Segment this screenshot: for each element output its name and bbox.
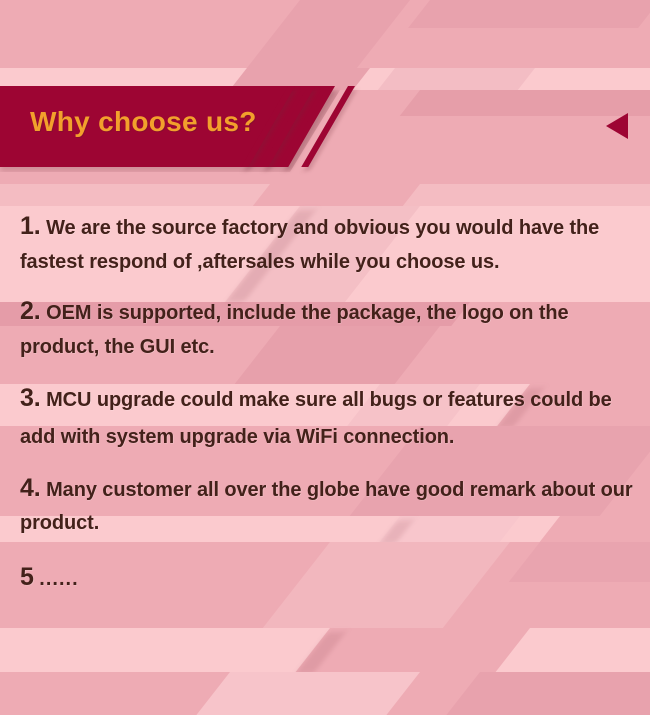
benefits-list: 1. We are the source factory and obvious…: [20, 207, 634, 611]
list-item-number: 2.: [20, 297, 41, 325]
list-item: 4. Many customer all over the globe have…: [20, 469, 634, 540]
bg-diagonal: [116, 628, 330, 672]
bg-diagonal: [378, 68, 535, 90]
slide-root: Why choose us? 1. We are the source fact…: [0, 0, 650, 715]
left-triangle-icon[interactable]: [606, 113, 628, 139]
list-item: 3. MCU upgrade could make sure all bugs …: [20, 377, 634, 454]
list-item-text: Many customer all over the globe have go…: [20, 479, 633, 535]
list-item: 5 ......: [20, 558, 634, 598]
list-item-text: MCU upgrade could make sure all bugs or …: [20, 389, 612, 448]
bg-diagonal: [408, 0, 650, 28]
list-item-number: 5: [20, 563, 34, 591]
list-item-number: 4.: [20, 474, 41, 502]
bg-diagonal: [253, 184, 420, 206]
bg-diagonal: [446, 672, 650, 715]
list-item: 2. OEM is supported, include the package…: [20, 292, 634, 363]
list-item-number: 1.: [20, 212, 41, 240]
list-item-text: ......: [39, 568, 78, 590]
list-item-text: We are the source factory and obvious yo…: [20, 217, 599, 273]
list-item: 1. We are the source factory and obvious…: [20, 207, 634, 278]
list-item-text: OEM is supported, include the package, t…: [20, 302, 569, 358]
page-title: Why choose us?: [30, 106, 257, 138]
list-item-number: 3.: [20, 384, 41, 412]
bg-diagonal: [196, 672, 420, 715]
